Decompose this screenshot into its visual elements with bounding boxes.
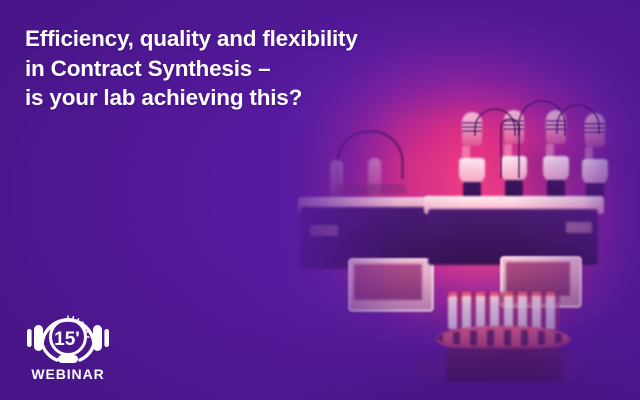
badge-label: WEBINAR [24,366,112,382]
headline-line-2: in Contract Synthesis – [25,54,455,84]
webinar-promo-banner: Efficiency, quality and flexibility in C… [0,0,640,400]
page-title: Efficiency, quality and flexibility in C… [25,24,455,113]
webinar-badge: 15' WEBINAR [24,306,112,388]
badge-duration-text: 15' [54,329,80,350]
headline-line-3: is your lab achieving this? [25,83,455,113]
headline-line-1: Efficiency, quality and flexibility [25,24,455,54]
headphones-clock-icon: 15' [24,306,112,366]
